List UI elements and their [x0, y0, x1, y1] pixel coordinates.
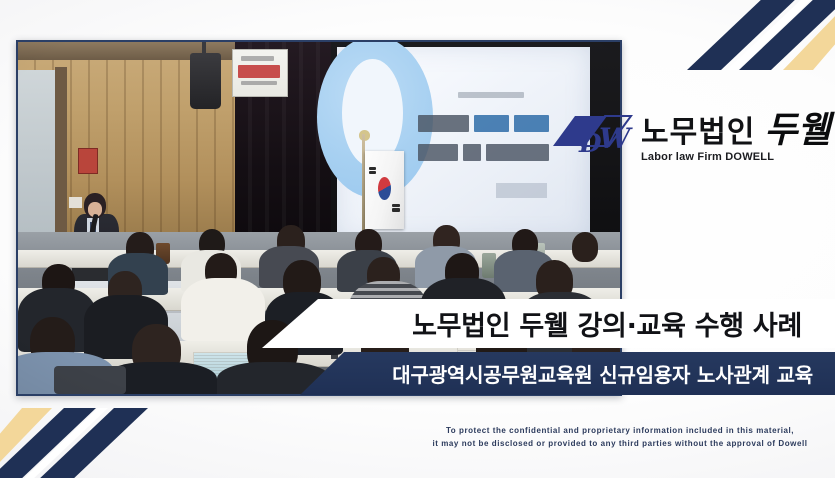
dw-monogram-icon: D W — [549, 106, 635, 168]
bottom-left-diagonal-decoration — [0, 408, 148, 478]
svg-text:W: W — [599, 122, 633, 155]
door-frame — [55, 67, 67, 236]
fire-alarm-box — [78, 148, 98, 175]
main-title-band: 노무법인 두웰 강의·교육 수행 사례 — [262, 299, 835, 348]
presentation-slide: D W 노무법인 두웰 Labor law Firm DOWELL 노무법인 두… — [0, 0, 835, 478]
disclaimer-line-2: it may not be disclosed or provided to a… — [415, 437, 825, 450]
logo-english-name: Labor law Firm DOWELL — [641, 152, 831, 163]
logo-korean-name: 노무법인 두웰 — [641, 112, 831, 148]
logo-text-block: 노무법인 두웰 Labor law Firm DOWELL — [641, 112, 831, 163]
subtitle-band: 대구광역시공무원교육원 신규임용자 노사관계 교육 — [262, 352, 835, 395]
left-wall-panel — [18, 70, 60, 232]
audience-head — [572, 232, 598, 262]
page-title: 노무법인 두웰 강의·교육 수행 사례 — [412, 304, 802, 343]
logo-korean-part1: 노무법인 — [641, 118, 755, 148]
dowell-logo: D W 노무법인 두웰 Labor law Firm DOWELL — [549, 96, 835, 178]
top-right-diagonal-decoration — [687, 0, 835, 70]
banner-top-text — [241, 56, 274, 61]
chair-back — [54, 366, 126, 394]
banner-bottom-text — [241, 81, 277, 85]
korean-national-flag — [365, 151, 404, 228]
logo-korean-part2: 두웰 — [764, 112, 830, 148]
disclaimer-line-1: To protect the confidential and propriet… — [415, 424, 825, 437]
ceiling-speaker — [190, 53, 221, 109]
banner-red-text — [238, 65, 280, 78]
confidentiality-notice: To protect the confidential and propriet… — [415, 424, 825, 450]
page-subtitle: 대구광역시공무원교육원 신규임용자 노사관계 교육 — [392, 359, 813, 388]
wall-outlet — [69, 197, 82, 208]
